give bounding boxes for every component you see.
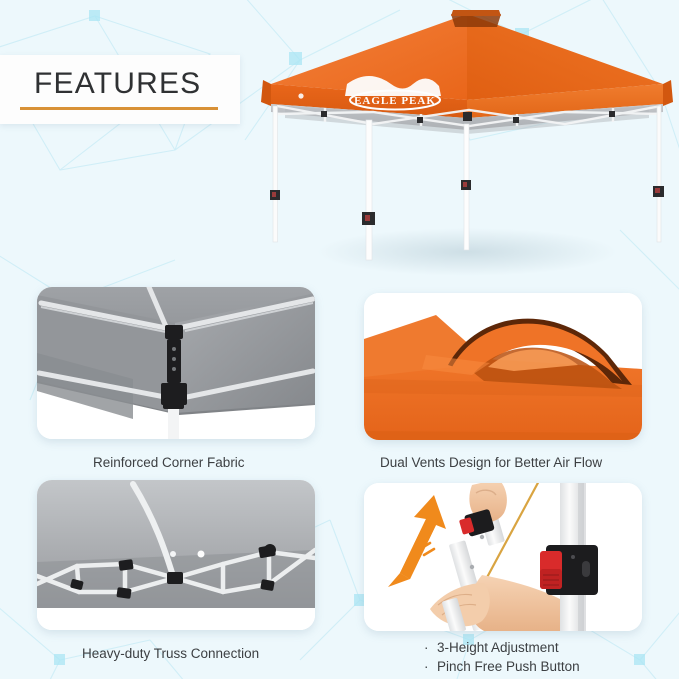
caption-push-button-list: ·3-Height Adjustment ·Pinch Free Push Bu…	[424, 638, 580, 676]
dual-vents-photo	[364, 293, 642, 440]
page-title: FEATURES	[34, 67, 201, 101]
feature-card-truss-connection[interactable]	[37, 480, 315, 630]
title-underline	[20, 107, 218, 110]
feature-card-reinforced-corner[interactable]	[37, 287, 315, 439]
infographic-canvas: FEATURES	[0, 0, 679, 679]
push-button-photo	[364, 483, 642, 631]
bullet-icon: ·	[424, 657, 437, 676]
canopy-legs	[270, 106, 664, 260]
hero-canopy-image: EAGLE PEAK	[255, 0, 679, 300]
reinforced-corner-photo	[37, 287, 315, 439]
caption-reinforced-corner: Reinforced Corner Fabric	[93, 455, 245, 470]
truss-connection-photo	[37, 480, 315, 630]
caption-dual-vents: Dual Vents Design for Better Air Flow	[380, 455, 602, 470]
push-button-mechanism	[540, 545, 598, 595]
feature-card-dual-vents[interactable]	[364, 293, 642, 440]
svg-text:EAGLE PEAK: EAGLE PEAK	[354, 95, 436, 107]
feature-card-push-button[interactable]	[364, 483, 642, 631]
caption-line-2: ·Pinch Free Push Button	[424, 657, 580, 676]
caption-line-1: ·3-Height Adjustment	[424, 638, 580, 657]
bullet-icon: ·	[424, 638, 437, 657]
features-banner: FEATURES	[0, 55, 240, 124]
caption-truss-connection: Heavy-duty Truss Connection	[82, 646, 259, 661]
